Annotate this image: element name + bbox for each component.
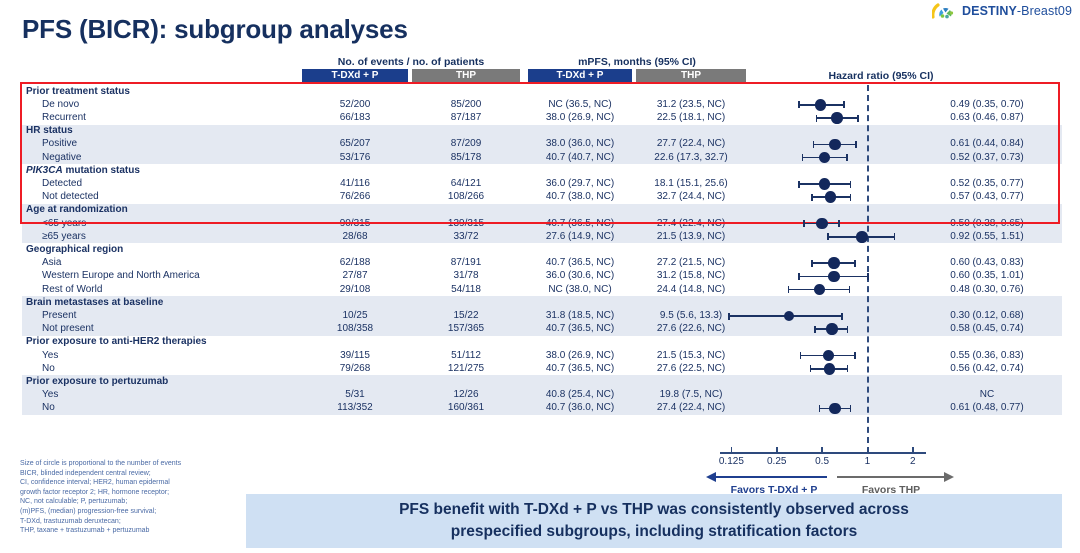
confidence-interval-cap — [811, 260, 813, 267]
events-tdxd-value: 53/176 — [302, 152, 408, 163]
hazard-ratio-value: 0.50 (0.38, 0.65) — [912, 218, 1062, 229]
mpfs-tdxd-value: 38.0 (26.9, NC) — [528, 112, 632, 123]
hazard-ratio-value: 0.60 (0.35, 1.01) — [912, 270, 1062, 281]
axis-tick-label: 0.25 — [767, 456, 786, 467]
confidence-interval-cap — [814, 326, 816, 333]
subgroup-label: <65 years — [42, 218, 86, 229]
mpfs-tdxd-value: 36.0 (30.6, NC) — [528, 270, 632, 281]
mpfs-tdxd-value: 27.6 (14.9, NC) — [528, 231, 632, 242]
confidence-interval-cap — [855, 141, 857, 148]
events-tdxd-value: 108/358 — [302, 323, 408, 334]
hazard-ratio-marker — [825, 191, 837, 203]
hazard-ratio-marker — [814, 284, 826, 296]
conclusion-banner: PFS benefit with T-DXd + P vs THP was co… — [246, 494, 1062, 548]
subgroup-category-label: Prior exposure to pertuzumab — [26, 376, 168, 387]
hazard-ratio-marker — [819, 152, 831, 164]
events-thp-value: 54/118 — [412, 284, 520, 295]
hazard-ratio-value: 0.55 (0.36, 0.83) — [912, 350, 1062, 361]
logo-label-bold: DESTINY — [962, 4, 1017, 18]
events-tdxd-value: 39/115 — [302, 350, 408, 361]
subgroup-category-label: HR status — [26, 125, 73, 136]
page-title: PFS (BICR): subgroup analyses — [22, 14, 408, 45]
mpfs-tdxd-value: 36.0 (29.7, NC) — [528, 178, 632, 189]
confidence-interval-cap — [838, 220, 840, 227]
subgroup-label: Recurrent — [42, 112, 86, 123]
hazard-ratio-value: 0.58 (0.45, 0.74) — [912, 323, 1062, 334]
slide-root: DESTINY-Breast09 PFS (BICR): subgroup an… — [0, 0, 1080, 553]
events-tdxd-value: 90/315 — [302, 218, 408, 229]
subgroup-label: De novo — [42, 99, 79, 110]
confidence-interval-cap — [810, 365, 812, 372]
hazard-ratio-marker — [815, 99, 827, 111]
events-thp-value: 12/26 — [412, 389, 520, 400]
events-tdxd-value: 41/116 — [302, 178, 408, 189]
events-tdxd-value: 79/268 — [302, 363, 408, 374]
hazard-ratio-marker — [816, 218, 828, 230]
confidence-interval-cap — [847, 326, 849, 333]
axis-tick — [821, 447, 823, 453]
confidence-interval-cap — [816, 115, 818, 122]
subgroup-label: Negative — [42, 152, 81, 163]
header-events-group: No. of events / no. of patients — [302, 56, 520, 68]
confidence-interval-cap — [850, 181, 852, 188]
hazard-ratio-marker — [828, 257, 840, 269]
events-thp-value: 87/191 — [412, 257, 520, 268]
confidence-interval-cap — [841, 313, 843, 320]
events-tdxd-value: 28/68 — [302, 231, 408, 242]
subgroup-label: Asia — [42, 257, 61, 268]
confidence-interval-cap — [798, 181, 800, 188]
footnote-line: growth factor receptor 2; HR, hormone re… — [20, 488, 240, 498]
footnote-line: BICR, blinded independent central review… — [20, 469, 240, 479]
hazard-ratio-marker — [831, 112, 843, 124]
mpfs-tdxd-value: 38.0 (36.0, NC) — [528, 138, 632, 149]
footnote-line: T-DXd, trastuzumab deruxtecan; — [20, 517, 240, 527]
hazard-ratio-marker — [823, 350, 835, 362]
confidence-interval-cap — [728, 313, 730, 320]
hazard-ratio-marker — [824, 363, 836, 375]
mpfs-tdxd-value: 40.8 (25.4, NC) — [528, 389, 632, 400]
subgroup-category-label: Age at randomization — [26, 204, 128, 215]
hazard-ratio-value: 0.92 (0.55, 1.51) — [912, 231, 1062, 242]
subgroup-label: Yes — [42, 389, 58, 400]
mpfs-tdxd-value: 40.7 (36.5, NC) — [528, 218, 632, 229]
subgroup-category-label: PIK3CA mutation status — [26, 165, 140, 176]
hazard-ratio-value: 0.49 (0.35, 0.70) — [912, 99, 1062, 110]
events-tdxd-value: 10/25 — [302, 310, 408, 321]
subgroup-category-label: Prior exposure to anti-HER2 therapies — [26, 336, 207, 347]
hazard-ratio-value: 0.63 (0.46, 0.87) — [912, 112, 1062, 123]
favors-left-arrow-icon — [715, 476, 827, 478]
confidence-interval-cap — [819, 405, 821, 412]
events-thp-value: 160/361 — [412, 402, 520, 413]
confidence-interval-cap — [894, 233, 896, 240]
column-header-mpfs-thp: THP — [636, 69, 746, 82]
confidence-interval-cap — [849, 286, 851, 293]
events-tdxd-value: 113/352 — [302, 402, 408, 413]
subgroup-label: Present — [42, 310, 76, 321]
events-tdxd-value: 62/188 — [302, 257, 408, 268]
footnote-line: (m)PFS, (median) progression-free surviv… — [20, 507, 240, 517]
footnote-line: THP, taxane + trastuzumab + pertuzumab — [20, 526, 240, 536]
events-thp-value: 108/266 — [412, 191, 520, 202]
mpfs-tdxd-value: 38.0 (26.9, NC) — [528, 350, 632, 361]
subgroup-label: No — [42, 363, 55, 374]
logo-label: DESTINY-Breast09 — [962, 4, 1072, 18]
confidence-interval-cap — [846, 154, 848, 161]
subgroup-label: ≥65 years — [42, 231, 86, 242]
events-thp-value: 121/275 — [412, 363, 520, 374]
hazard-ratio-value: NC — [912, 389, 1062, 400]
header-hazard-group: Hazard ratio (95% CI) — [786, 70, 976, 82]
subgroup-label: Detected — [42, 178, 82, 189]
events-tdxd-value: 52/200 — [302, 99, 408, 110]
axis-tick-label: 0.5 — [815, 456, 829, 467]
axis-tick — [867, 447, 869, 453]
confidence-interval-cap — [813, 141, 815, 148]
axis-tick — [731, 447, 733, 453]
footnote-line: Size of circle is proportional to the nu… — [20, 459, 240, 469]
confidence-interval-cap — [788, 286, 790, 293]
destiny-logo-icon — [932, 2, 958, 20]
events-thp-value: 51/112 — [412, 350, 520, 361]
hazard-ratio-value: 0.52 (0.37, 0.73) — [912, 152, 1062, 163]
subgroup-label: Yes — [42, 350, 58, 361]
conclusion-line-1: PFS benefit with T-DXd + P vs THP was co… — [399, 499, 909, 521]
axis-tick-label: 2 — [910, 456, 916, 467]
mpfs-tdxd-value: NC (36.5, NC) — [528, 99, 632, 110]
mpfs-tdxd-value: 40.7 (38.0, NC) — [528, 191, 632, 202]
hazard-ratio-value: 0.30 (0.12, 0.68) — [912, 310, 1062, 321]
axis-tick-label: 1 — [865, 456, 871, 467]
mpfs-tdxd-value: NC (38.0, NC) — [528, 284, 632, 295]
footnote-line: CI, confidence interval; HER2, human epi… — [20, 478, 240, 488]
events-thp-value: 64/121 — [412, 178, 520, 189]
events-tdxd-value: 27/87 — [302, 270, 408, 281]
hazard-ratio-marker — [828, 271, 840, 283]
events-thp-value: 33/72 — [412, 231, 520, 242]
mpfs-tdxd-value: 31.8 (18.5, NC) — [528, 310, 632, 321]
footnotes: Size of circle is proportional to the nu… — [20, 459, 240, 536]
events-tdxd-value: 29/108 — [302, 284, 408, 295]
confidence-interval-cap — [811, 194, 813, 201]
hazard-ratio-marker — [829, 139, 841, 151]
confidence-interval-cap — [850, 405, 852, 412]
confidence-interval-cap — [802, 154, 804, 161]
events-tdxd-value: 76/266 — [302, 191, 408, 202]
confidence-interval-cap — [854, 352, 856, 359]
events-thp-value: 157/365 — [412, 323, 520, 334]
hazard-ratio-value: 0.61 (0.48, 0.77) — [912, 402, 1062, 413]
footnote-line: NC, not calculable; P, pertuzumab; — [20, 497, 240, 507]
mpfs-tdxd-value: 40.7 (36.5, NC) — [528, 323, 632, 334]
hazard-ratio-marker — [784, 311, 794, 321]
events-thp-value: 15/22 — [412, 310, 520, 321]
conclusion-line-2: prespecified subgroups, including strati… — [451, 521, 858, 543]
confidence-interval-cap — [847, 365, 849, 372]
hazard-ratio-marker — [856, 231, 868, 243]
axis-line — [720, 452, 926, 454]
subgroup-label: Rest of World — [42, 284, 102, 295]
confidence-interval-cap — [803, 220, 805, 227]
confidence-interval-cap — [827, 233, 829, 240]
header-mpfs-group: mPFS, months (95% CI) — [528, 56, 746, 68]
destiny-breast09-logo: DESTINY-Breast09 — [932, 2, 1072, 20]
subgroup-label: No — [42, 402, 55, 413]
null-reference-line — [867, 85, 869, 453]
axis-tick — [912, 447, 914, 453]
events-thp-value: 87/187 — [412, 112, 520, 123]
events-thp-value: 31/78 — [412, 270, 520, 281]
confidence-interval-cap — [850, 194, 852, 201]
subgroup-category-label: Geographical region — [26, 244, 123, 255]
events-thp-value: 139/315 — [412, 218, 520, 229]
confidence-interval-cap — [798, 273, 800, 280]
axis-tick — [776, 447, 778, 453]
hazard-ratio-value: 0.60 (0.43, 0.83) — [912, 257, 1062, 268]
column-header-events-thp: THP — [412, 69, 520, 82]
column-header-mpfs-tdxd: T-DXd + P — [528, 69, 632, 82]
subgroup-label: Not detected — [42, 191, 99, 202]
subgroup-label: Western Europe and North America — [42, 270, 200, 281]
subgroup-category-label: Prior treatment status — [26, 86, 130, 97]
forest-plot — [720, 85, 930, 453]
subgroup-label: Positive — [42, 138, 77, 149]
confidence-interval-cap — [857, 115, 859, 122]
hazard-ratio-marker — [819, 178, 831, 190]
confidence-interval-cap — [854, 260, 856, 267]
confidence-interval-cap — [798, 101, 800, 108]
hazard-ratio-marker — [829, 403, 841, 415]
confidence-interval-cap — [867, 273, 869, 280]
events-thp-value: 87/209 — [412, 138, 520, 149]
mpfs-tdxd-value: 40.7 (36.5, NC) — [528, 257, 632, 268]
hazard-ratio-value: 0.52 (0.35, 0.77) — [912, 178, 1062, 189]
confidence-interval-cap — [800, 352, 802, 359]
favors-right-arrow-icon — [837, 476, 945, 478]
hazard-ratio-value: 0.61 (0.44, 0.84) — [912, 138, 1062, 149]
subgroup-category-label: Brain metastases at baseline — [26, 297, 163, 308]
logo-label-rest: -Breast09 — [1017, 4, 1072, 18]
hazard-ratio-value: 0.48 (0.30, 0.76) — [912, 284, 1062, 295]
events-tdxd-value: 66/183 — [302, 112, 408, 123]
mpfs-tdxd-value: 40.7 (40.7, NC) — [528, 152, 632, 163]
hazard-ratio-value: 0.56 (0.42, 0.74) — [912, 363, 1062, 374]
mpfs-tdxd-value: 40.7 (36.5, NC) — [528, 363, 632, 374]
hazard-ratio-marker — [826, 323, 838, 335]
events-tdxd-value: 5/31 — [302, 389, 408, 400]
events-tdxd-value: 65/207 — [302, 138, 408, 149]
hazard-ratio-value: 0.57 (0.43, 0.77) — [912, 191, 1062, 202]
events-thp-value: 85/200 — [412, 99, 520, 110]
mpfs-tdxd-value: 40.7 (36.0, NC) — [528, 402, 632, 413]
axis-tick-label: 0.125 — [719, 456, 744, 467]
column-header-events-tdxd: T-DXd + P — [302, 69, 408, 82]
subgroup-label: Not present — [42, 323, 94, 334]
events-thp-value: 85/178 — [412, 152, 520, 163]
confidence-interval-cap — [843, 101, 845, 108]
